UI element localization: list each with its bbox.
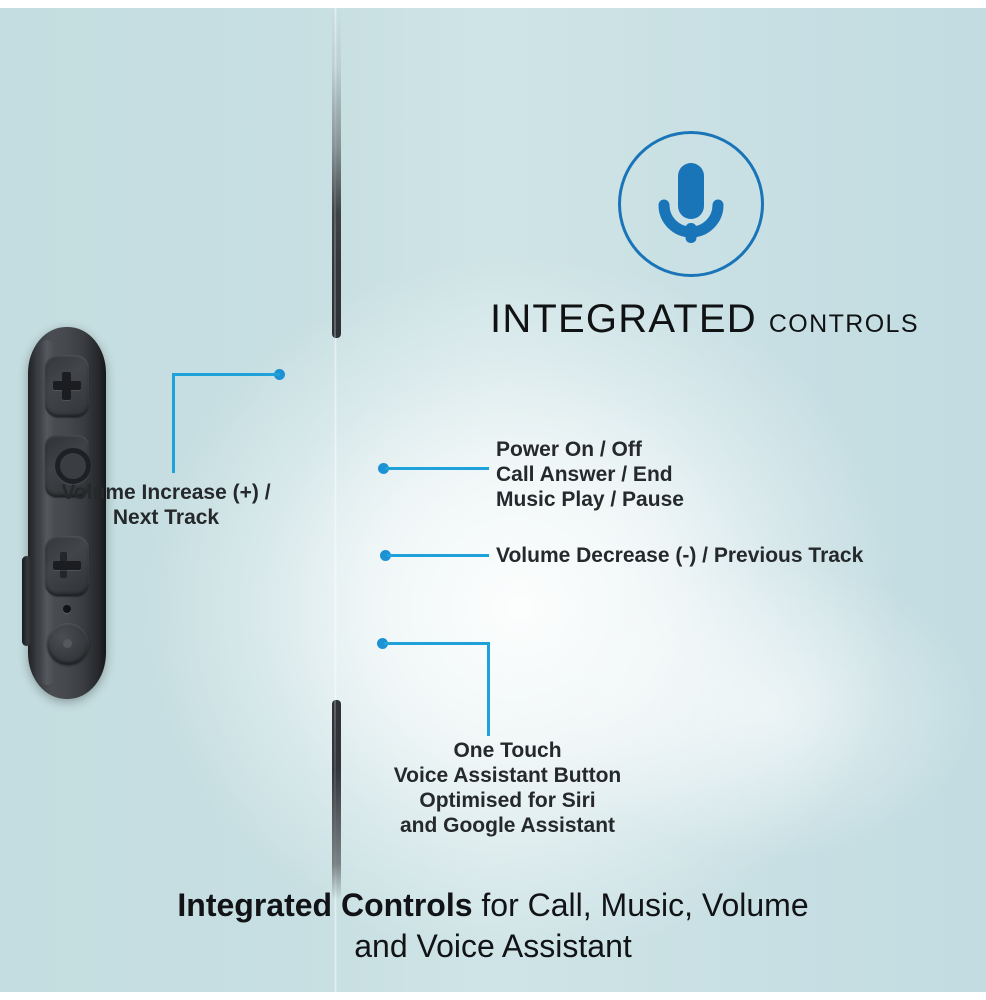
callout-power: Power On / Off Call Answer / End Music P… [496, 437, 684, 512]
footer-rest: for Call, Music, Volume [473, 887, 809, 923]
microphone-badge [618, 131, 764, 277]
minus-icon [53, 561, 81, 570]
product-infographic: INTEGRATEDCONTROLS Volume Increase (+) /… [0, 0, 986, 1000]
connector-line-power [385, 467, 489, 470]
footer-line-1: Integrated Controls for Call, Music, Vol… [0, 885, 986, 926]
callout-voice-assistant-line-3: Optimised for Siri [330, 788, 685, 813]
power-icon [55, 448, 91, 484]
connector-line-volume-increase-h [172, 373, 280, 376]
callout-voice-assistant: One Touch Voice Assistant Button Optimis… [330, 738, 685, 838]
callout-volume-increase: Volume Increase (+) / Next Track [20, 480, 312, 530]
callout-volume-increase-line-1: Volume Increase (+) / [20, 480, 312, 505]
callout-volume-decrease: Volume Decrease (-) / Previous Track [496, 543, 863, 568]
footer-bold: Integrated Controls [177, 887, 472, 923]
callout-voice-assistant-line-1: One Touch [330, 738, 685, 763]
heading-main: INTEGRATED [490, 297, 757, 341]
callout-volume-decrease-line-1: Volume Decrease (-) / Previous Track [496, 543, 863, 568]
voice-assistant-button-center [63, 639, 72, 648]
control-module-side-tab [22, 556, 31, 646]
connector-line-volume-decrease [387, 554, 489, 557]
callout-power-line-3: Music Play / Pause [496, 487, 684, 512]
callout-voice-assistant-line-4: and Google Assistant [330, 813, 685, 838]
microphone-icon [656, 163, 726, 245]
connector-line-volume-increase-v [172, 373, 175, 473]
callout-power-line-2: Call Answer / End [496, 462, 684, 487]
callout-power-line-1: Power On / Off [496, 437, 684, 462]
led-indicator [63, 605, 71, 613]
plus-icon-vertical [62, 372, 71, 400]
callout-voice-assistant-line-2: Voice Assistant Button [330, 763, 685, 788]
connector-line-voice-assistant-v [487, 642, 490, 736]
footer-line-2: and Voice Assistant [0, 926, 986, 967]
heading-sub: CONTROLS [769, 310, 919, 338]
callout-volume-increase-line-2: Next Track [20, 505, 312, 530]
footer-caption: Integrated Controls for Call, Music, Vol… [0, 885, 986, 967]
page-title: INTEGRATEDCONTROLS [490, 297, 919, 342]
connector-line-voice-assistant-h [384, 642, 490, 645]
cable-upper-highlight [334, 130, 336, 338]
